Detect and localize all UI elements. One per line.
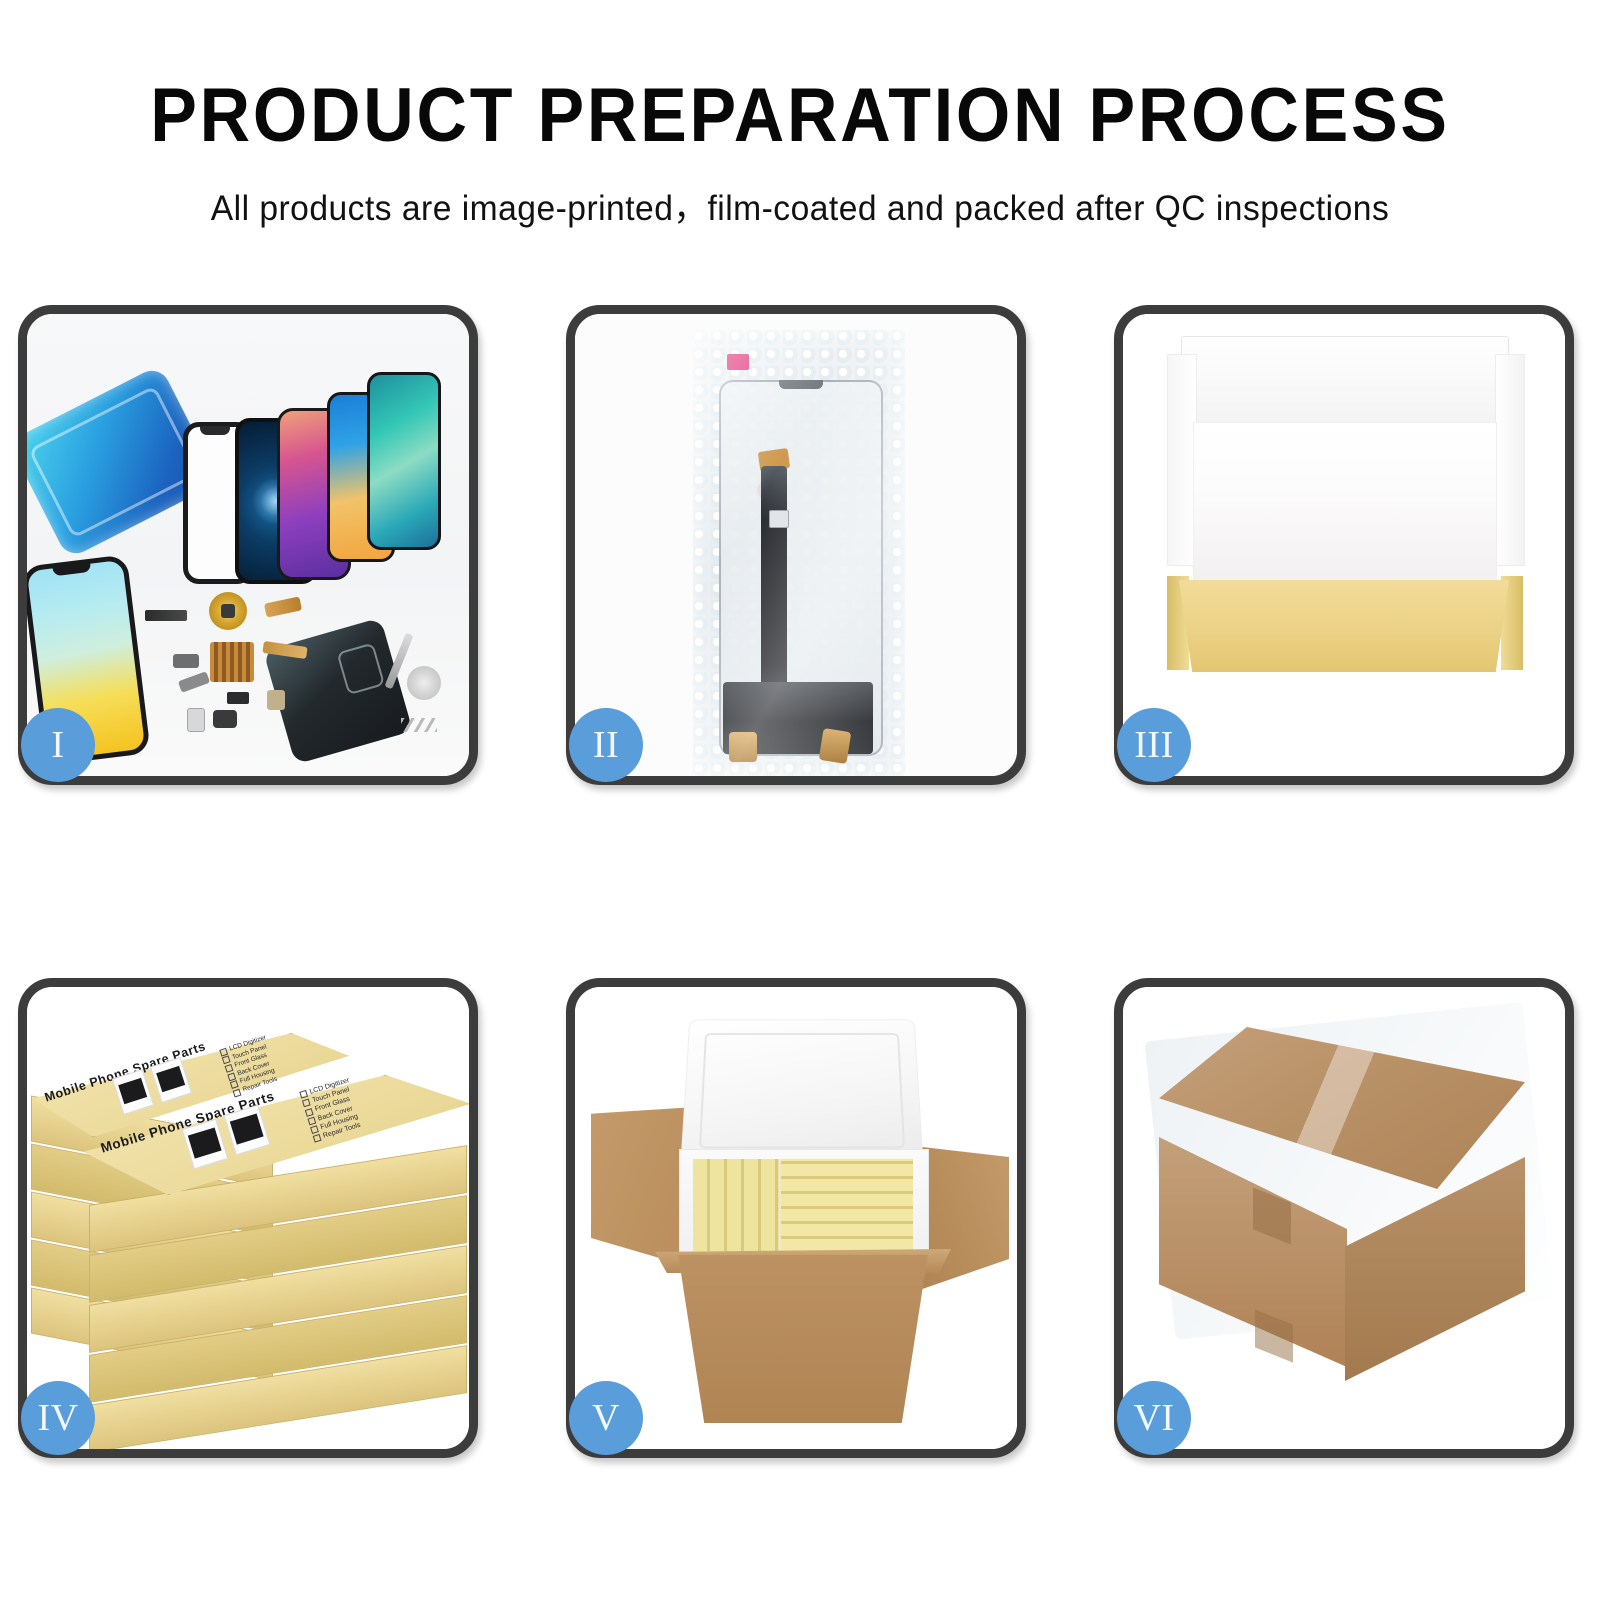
page-subtitle: All products are image-printed，film-coat… bbox=[32, 154, 1568, 231]
box-lid-right-ear-icon bbox=[1495, 354, 1525, 566]
step-1-product-parts[interactable]: I bbox=[18, 305, 478, 785]
page-title: PRODUCT PREPARATION PROCESS bbox=[64, 0, 1536, 154]
page-header: PRODUCT PREPARATION PROCESS All products… bbox=[0, 0, 1600, 231]
bubble-wrap-bag-icon bbox=[693, 330, 905, 776]
flex-cable-1-icon bbox=[264, 596, 302, 617]
small-part-3-icon bbox=[227, 692, 249, 704]
bubble-wrap-scene bbox=[575, 314, 1017, 776]
ic-chip-icon bbox=[210, 642, 254, 682]
small-part-1-icon bbox=[173, 654, 199, 668]
step-1-image bbox=[27, 314, 469, 776]
brush-icon bbox=[407, 666, 441, 700]
step-badge-5: V bbox=[569, 1381, 643, 1455]
step-4-image: Mobile Phone Spare Parts LCD Digitizer T… bbox=[27, 987, 469, 1449]
coil-part-icon bbox=[209, 592, 247, 630]
step-3-inner-box[interactable]: III bbox=[1114, 305, 1574, 785]
step-5-image bbox=[575, 987, 1017, 1449]
inner-box-scene bbox=[1123, 314, 1565, 776]
step-4-retail-boxes[interactable]: Mobile Phone Spare Parts LCD Digitizer T… bbox=[18, 978, 478, 1458]
step-badge-6: VI bbox=[1117, 1381, 1191, 1455]
step-2-image bbox=[575, 314, 1017, 776]
step-6-image bbox=[1123, 987, 1565, 1449]
small-part-2-icon bbox=[178, 671, 210, 693]
step-3-image bbox=[1123, 314, 1565, 776]
foam-carton-scene bbox=[575, 987, 1017, 1449]
step-badge-4: IV bbox=[21, 1381, 95, 1455]
white-foam-sheet-icon bbox=[1193, 422, 1497, 590]
teal-phone-icon bbox=[367, 372, 441, 550]
packed-gold-boxes-icon bbox=[693, 1159, 913, 1251]
speaker-bar-icon bbox=[145, 610, 187, 621]
sealed-carton-scene bbox=[1123, 987, 1565, 1449]
step-5-foam-carton[interactable]: V bbox=[566, 978, 1026, 1458]
small-part-4-icon bbox=[213, 710, 237, 728]
kraft-box-front-icon bbox=[1179, 580, 1509, 672]
gold-stack-scene: Mobile Phone Spare Parts LCD Digitizer T… bbox=[27, 987, 469, 1449]
small-part-6-icon bbox=[267, 690, 285, 710]
step-badge-1: I bbox=[21, 708, 95, 782]
step-2-bubble-wrap[interactable]: II bbox=[566, 305, 1026, 785]
carton-body-icon bbox=[673, 1255, 933, 1423]
phone-parts-scene bbox=[27, 314, 469, 776]
foam-lid-icon bbox=[680, 1019, 923, 1166]
sim-tray-icon bbox=[187, 708, 205, 732]
step-6-sealed-carton[interactable]: VI bbox=[1114, 978, 1574, 1458]
box-stack: Mobile Phone Spare Parts LCD Digitizer T… bbox=[27, 987, 469, 1449]
plastic-sheen-overlay bbox=[693, 330, 905, 776]
step-badge-2: II bbox=[569, 708, 643, 782]
screws-icon bbox=[401, 718, 437, 732]
step-badge-3: III bbox=[1117, 708, 1191, 782]
phone-back-housing-icon bbox=[263, 617, 413, 764]
process-steps-grid: I II bbox=[18, 305, 1574, 1458]
